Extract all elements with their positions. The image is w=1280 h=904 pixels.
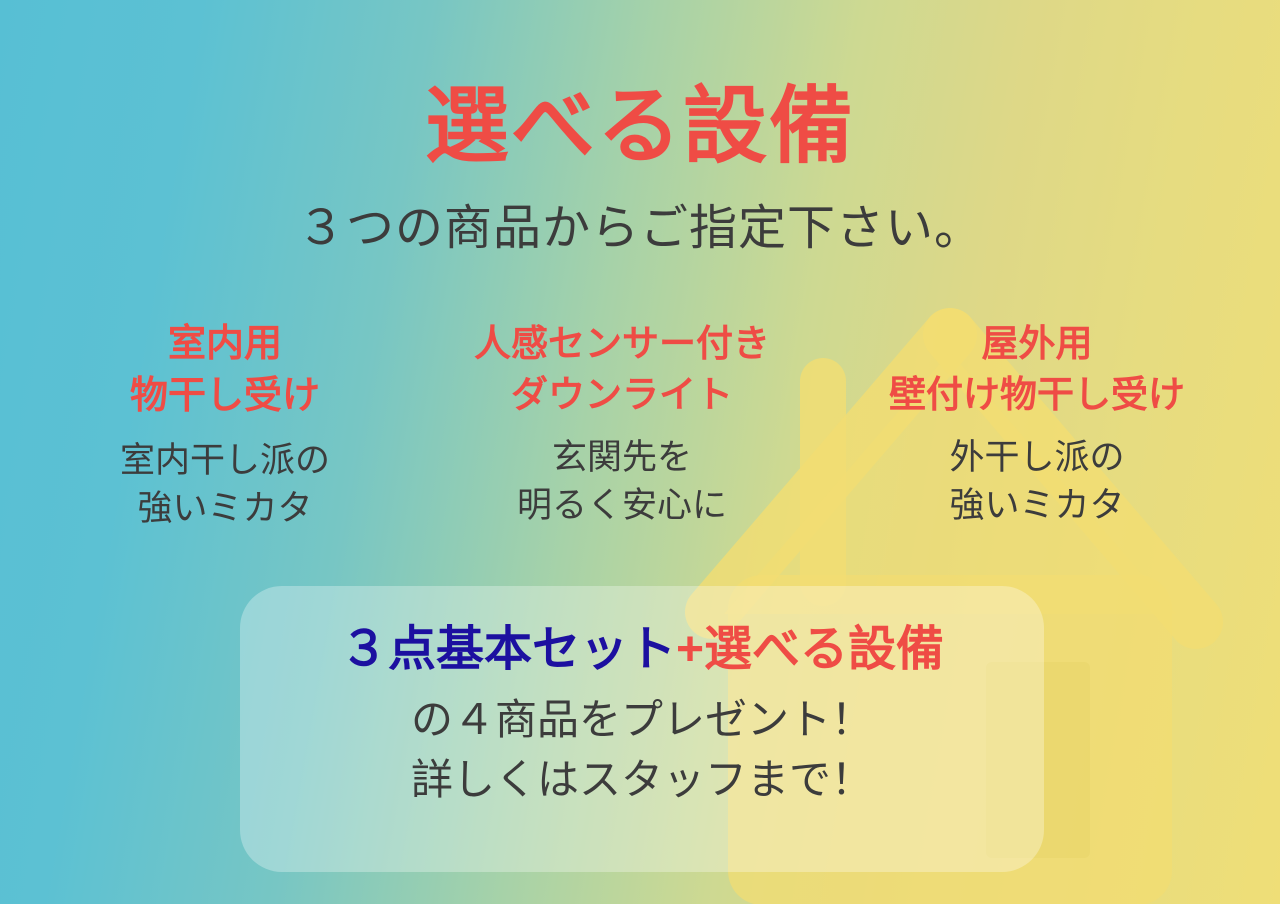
option-card-indoor[interactable]: 室内用 物干し受け 室内干し派の 強いミカタ	[28, 318, 422, 533]
option-heading-line: 屋外用	[822, 318, 1252, 369]
option-body: 外干し派の 強いミカタ	[822, 434, 1252, 531]
option-heading: 人感センサー付き ダウンライト	[422, 318, 822, 420]
option-body-line: 外干し派の	[822, 434, 1252, 482]
option-heading: 室内用 物干し受け	[28, 318, 422, 423]
offer-subtext-line: の４商品をプレゼント！	[240, 690, 1044, 750]
option-heading: 屋外用 壁付け物干し受け	[822, 318, 1252, 420]
options-row: 室内用 物干し受け 室内干し派の 強いミカタ 人感センサー付き ダウンライト 玄…	[0, 318, 1280, 533]
option-body-line: 室内干し派の	[28, 437, 422, 485]
page-title: 選べる設備	[0, 84, 1280, 168]
offer-block: ３点基本セット+選べる設備 の４商品をプレゼント！ 詳しくはスタッフまで！	[240, 620, 1044, 809]
option-heading-line: 室内用	[28, 318, 422, 370]
option-heading-line: 壁付け物干し受け	[822, 369, 1252, 420]
option-heading-line: ダウンライト	[422, 369, 822, 420]
option-heading-line: 人感センサー付き	[422, 318, 822, 369]
option-body-line: 明るく安心に	[422, 482, 822, 530]
promo-poster: 選べる設備 ３つの商品からご指定下さい。 室内用 物干し受け 室内干し派の 強い…	[0, 0, 1280, 904]
option-body-line: 強いミカタ	[822, 482, 1252, 530]
option-card-downlight[interactable]: 人感センサー付き ダウンライト 玄関先を 明るく安心に	[422, 318, 822, 533]
option-body-line: 玄関先を	[422, 434, 822, 482]
page-subtitle: ３つの商品からご指定下さい。	[0, 200, 1280, 258]
option-body: 玄関先を 明るく安心に	[422, 434, 822, 531]
option-card-outdoor[interactable]: 屋外用 壁付け物干し受け 外干し派の 強いミカタ	[822, 318, 1252, 533]
option-body: 室内干し派の 強いミカタ	[28, 437, 422, 534]
offer-subtext-line: 詳しくはスタッフまで！	[240, 750, 1044, 810]
offer-headline-choice: +選べる設備	[676, 623, 944, 676]
offer-subtext: の４商品をプレゼント！ 詳しくはスタッフまで！	[240, 690, 1044, 809]
option-heading-line: 物干し受け	[28, 370, 422, 422]
offer-headline-base-set: ３点基本セット	[340, 623, 676, 676]
offer-headline: ３点基本セット+選べる設備	[240, 620, 1044, 680]
option-body-line: 強いミカタ	[28, 485, 422, 533]
